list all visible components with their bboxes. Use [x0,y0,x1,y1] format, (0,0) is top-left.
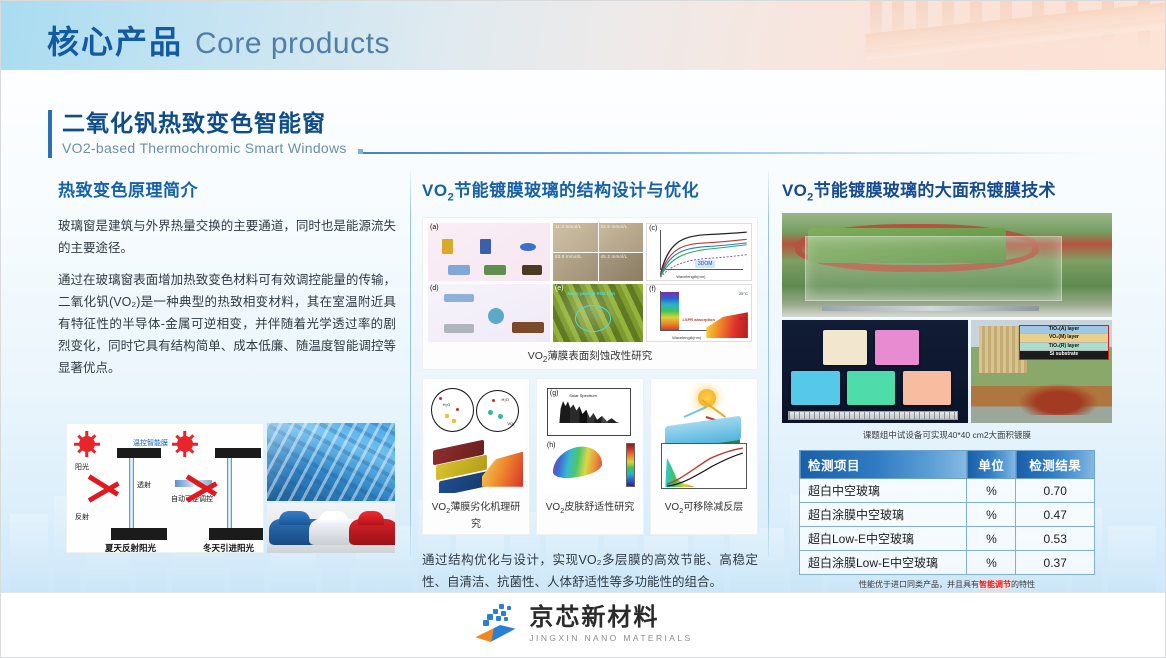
label-vo2-1: VO₂ [507,421,514,426]
sample-tile-pink [875,330,920,365]
swatch-4: 45.2 mmol/L [599,253,644,281]
fig-label-d: (d) [430,285,439,292]
sample-tile-peach [903,371,951,405]
section-accent-bar [48,110,52,158]
swatch-2-conc: 22.6 mmol/L [599,223,644,251]
brand-name-en: JINGXIN NANO MATERIALS [529,634,692,643]
mini-caption-3: VO2可移除减反层 [655,498,753,515]
mini-cap-1-pre: VO [432,502,446,513]
stack-layer-4: Si substrate [1020,351,1108,359]
fig-leaf-photo: (e) Nano-porous VO2 film [553,284,643,342]
page-title-en: Core products [195,27,390,61]
chart-x-label-1: Wavelength(nm) [676,274,705,279]
glass-edge [822,306,1040,311]
fig-degradation: H₂O H₂O VO₂ [427,383,525,493]
middle-footer-text: 通过结构优化与设计，实现VO₂多层膜的高效节能、高稳定性、自清洁、抗菌性、人体舒… [422,549,758,593]
fig-label-f: (f) [649,286,656,293]
ruler [788,411,959,420]
fig-skin-comfort: (g) Solar Spectrum (h) [541,383,639,493]
label-smart-film: 温控智能膜 [133,438,168,448]
caption-winter: 冬天引进阳光 [203,542,254,553]
table-note: 性能优于进口同类产品，并且具有智能调节的特性 [782,579,1112,590]
rainbow-3d-surface: (h) [545,441,614,489]
sun-icon-summer [79,436,95,452]
panel-top-caption-pre: VO [528,350,543,362]
cell-unit: % [967,479,1016,503]
photo-large-coated-glass [782,213,1112,317]
coated-glass-overlay [805,236,1062,300]
fig-lspr-chart: (f) LSPR absorption 25°C 90°C Wavelength… [646,284,752,342]
cell-item: 超白Low-E中空玻璃 [800,527,967,551]
right-column-heading: VO2节能镀膜玻璃的大面积镀膜技术 [782,176,1112,203]
slide-canvas: 核心产品 Core products [0,0,1166,658]
mini-caption-2: VO2皮肤舒适性研究 [541,498,639,515]
colorbar [626,443,635,487]
cell-result: 0.53 [1016,527,1095,551]
transmittance-curves [647,224,751,280]
right-heading-pre: VO [782,181,807,200]
test-results-table: 检测项目 单位 检测结果 超白中空玻璃 % 0.70 超白涂膜中空玻璃 % 0.… [799,450,1095,575]
cell-unit: % [967,551,1016,575]
cell-item: 超白涂膜中空玻璃 [800,503,967,527]
swatch-3: 33.9 mmol/L [553,253,598,281]
cell-result: 0.47 [1016,503,1095,527]
annot-solar-spectrum: Solar Spectrum [569,393,597,398]
mini-cap-1-post: 薄膜劣化机理研究 [450,502,520,530]
table-row: 超白中空玻璃 % 0.70 [800,479,1095,503]
annot-3dom: 3DOM [695,260,715,268]
page-title-cn: 核心产品 [47,17,183,63]
left-figure-group: 阳光 反射 温控智能膜 透射 自动可逆调控 夏天反射阳光 冬天引进阳光 [66,423,396,553]
column-divider-right [768,172,769,557]
film-stack-legend: TiO₂(A) layer VO₂(M) layer TiO₂(R) layer… [1019,325,1109,360]
left-paragraph-1: 玻璃窗是建筑与外界热量交换的主要通道，同时也是能源流失的主要途径。 [58,215,396,259]
sample-tile-cream [823,330,868,365]
label-reflect-summer: 反射 [75,512,89,522]
window-frame-bottom-winter [209,528,264,540]
annot-temp-low: 25°C [739,291,748,296]
panel-degradation: H₂O H₂O VO₂ VO2薄膜劣化机理研究 [422,378,530,535]
panel-removable-ar: VO2可移除减反层 [650,378,758,535]
cell-unit: % [967,503,1016,527]
table-header-row: 检测项目 单位 检测结果 [800,451,1095,479]
section-rule [363,152,1108,154]
window-glass-summer [129,458,134,528]
table-row: 超白涂膜中空玻璃 % 0.47 [800,503,1095,527]
swatch-2: 22.6 mmol/L [599,223,644,251]
cell-item: 超白涂膜Low-E中空玻璃 [800,551,967,575]
panel-surface-etching: (a) 11.3 mmol/L 22.6 mmol/L 33.9 mmol/L … [422,217,758,370]
column-right: VO2节能镀膜玻璃的大面积镀膜技术 [782,176,1112,590]
swatch-4-conc: 45.2 mmol/L [599,253,644,281]
section-title: 二氧化钒热致变色智能窗 VO2-based Thermochromic Smar… [48,108,347,158]
label-sunlight-summer: 阳光 [75,462,89,472]
cell-result: 0.70 [1016,479,1095,503]
fig-color-swatches: 11.3 mmol/L 22.6 mmol/L 33.9 mmol/L 45.2… [553,223,643,281]
window-frame-top-winter [215,448,261,458]
left-photo-stack [267,423,395,553]
sample-tile-green [847,371,895,405]
middle-column-heading: VO2节能镀膜玻璃的结构设计与优化 [422,176,758,203]
fig-synthesis-schematic: (a) [428,223,550,281]
chart-x-label-2: Wavelength(nm) [672,335,701,340]
mechanism-circle-left [431,388,474,432]
column-divider-left [410,172,411,557]
annot-nano-porous: Nano-porous VO2 film [567,291,615,296]
header-architecture-watermark [866,0,1166,70]
stack-layer-2: VO₂(M) layer [1020,334,1108,343]
window-frame-bottom-summer [111,528,167,540]
right-photo-caption: 课题组中试设备可实现40*40 cm2大面积镀膜 [782,429,1112,441]
large-area-coating-photos: TiO₂(A) layer VO₂(M) layer TiO₂(R) layer… [782,213,1112,423]
logo-text: 京芯新材料 JINGXIN NANO MATERIALS [529,606,692,643]
table-row: 超白涂膜Low-E中空玻璃 % 0.37 [800,551,1095,575]
fig-label-h: (h) [547,442,556,449]
mini-caption-1: VO2薄膜劣化机理研究 [427,498,525,530]
table-note-pre: 性能优于进口同类产品，并且具有 [859,580,979,589]
ar-spectrum-chart [661,443,747,489]
fig-transmittance-chart: (c) 3DOM Wavelength(nm) [646,223,752,281]
middle-heading-post: 节能镀膜玻璃的结构设计与优化 [454,181,699,200]
smart-window-diagram: 阳光 反射 温控智能膜 透射 自动可逆调控 夏天反射阳光 冬天引进阳光 [66,423,264,553]
campus-red-path [1019,384,1098,415]
fig-label-g: (g) [550,390,559,397]
glass-curtain-building-photo [267,423,395,501]
cell-item: 超白中空玻璃 [800,479,967,503]
table-header-unit: 单位 [967,451,1016,479]
panel-skin-comfort: (g) Solar Spectrum (h) VO2皮肤舒适性研究 [536,378,644,535]
fig-coating-process: (d) [428,284,550,342]
mini-cap-3-post: 可移除减反层 [683,502,743,513]
page-title: 核心产品 Core products [47,17,390,63]
column-middle: VO2节能镀膜玻璃的结构设计与优化 (a) 11.3 mmol/L 22.6 m… [422,176,758,603]
fig-label-e: (e) [555,285,564,292]
fig-removable-ar [655,383,753,493]
table-row: 超白Low-E中空玻璃 % 0.53 [800,527,1095,551]
right-heading-post: 节能镀膜玻璃的大面积镀膜技术 [814,181,1056,200]
annot-lspr: LSPR absorption [682,317,714,322]
degradation-spectrum [482,449,523,486]
label-h2o-1: H₂O [443,402,451,407]
label-h2o-2: H₂O [501,397,509,402]
cars-photo [267,503,395,553]
photo-campus-through-glass: TiO₂(A) layer VO₂(M) layer TiO₂(R) layer… [971,320,1112,423]
table-header-result: 检测结果 [1016,451,1095,479]
left-column-heading: 热致变色原理简介 [58,176,396,201]
cell-result: 0.37 [1016,551,1095,575]
section-title-en: VO2-based Thermochromic Smart Windows [62,138,347,158]
left-paragraph-2: 通过在玻璃窗表面增加热致变色材料可有效调控能量的传输，二氧化钒(VO₂)是一种典… [58,269,396,379]
window-glass-winter [227,458,232,528]
column-left: 热致变色原理简介 玻璃窗是建筑与外界热量交换的主要通道，同时也是能源流失的主要途… [58,176,396,389]
swatch-3-conc: 33.9 mmol/L [553,253,598,281]
header-band: 核心产品 Core products [0,0,1166,70]
stack-layer-1: TiO₂(A) layer [1020,326,1108,335]
brand-name-cn: 京芯新材料 [529,606,692,630]
cell-unit: % [967,527,1016,551]
photo-colored-samples [782,320,968,423]
section-title-cn: 二氧化钒热致变色智能窗 [62,108,347,138]
label-transmit: 透射 [137,480,151,490]
mini-panel-row: H₂O H₂O VO₂ VO2薄膜劣化机理研究 (g) Solar Spectr… [422,378,758,535]
swatch-1-conc: 11.3 mmol/L [553,223,598,251]
annot-temp-high: 90°C [739,316,748,321]
mini-cap-3-pre: VO [665,502,679,513]
caption-summer: 夏天反射阳光 [105,542,156,553]
swatch-1: 11.3 mmol/L [553,223,598,251]
table-header-item: 检测项目 [800,451,967,479]
car-red [349,519,395,545]
table-note-post: 的特性 [1011,580,1035,589]
middle-heading-pre: VO [422,181,448,200]
solar-spectrum-box: (g) Solar Spectrum [547,388,631,436]
window-frame-top-summer [117,448,161,458]
logo-mark-icon [473,604,519,644]
fig-label-a: (a) [430,224,439,231]
sample-tile-blue [791,371,839,405]
panel-top-caption-post: 薄膜表面刻蚀改性研究 [547,350,652,362]
mini-cap-2-post: 皮肤舒适性研究 [564,502,634,513]
panel-top-caption: VO2薄膜表面刻蚀改性研究 [428,348,752,364]
mini-cap-2-pre: VO [546,502,560,513]
sun-icon-winter [177,436,193,452]
footer-logo: 京芯新材料 JINGXIN NANO MATERIALS [0,600,1166,648]
table-note-highlight: 智能调节 [979,580,1011,589]
stack-layer-3: TiO₂(R) layer [1020,343,1108,352]
